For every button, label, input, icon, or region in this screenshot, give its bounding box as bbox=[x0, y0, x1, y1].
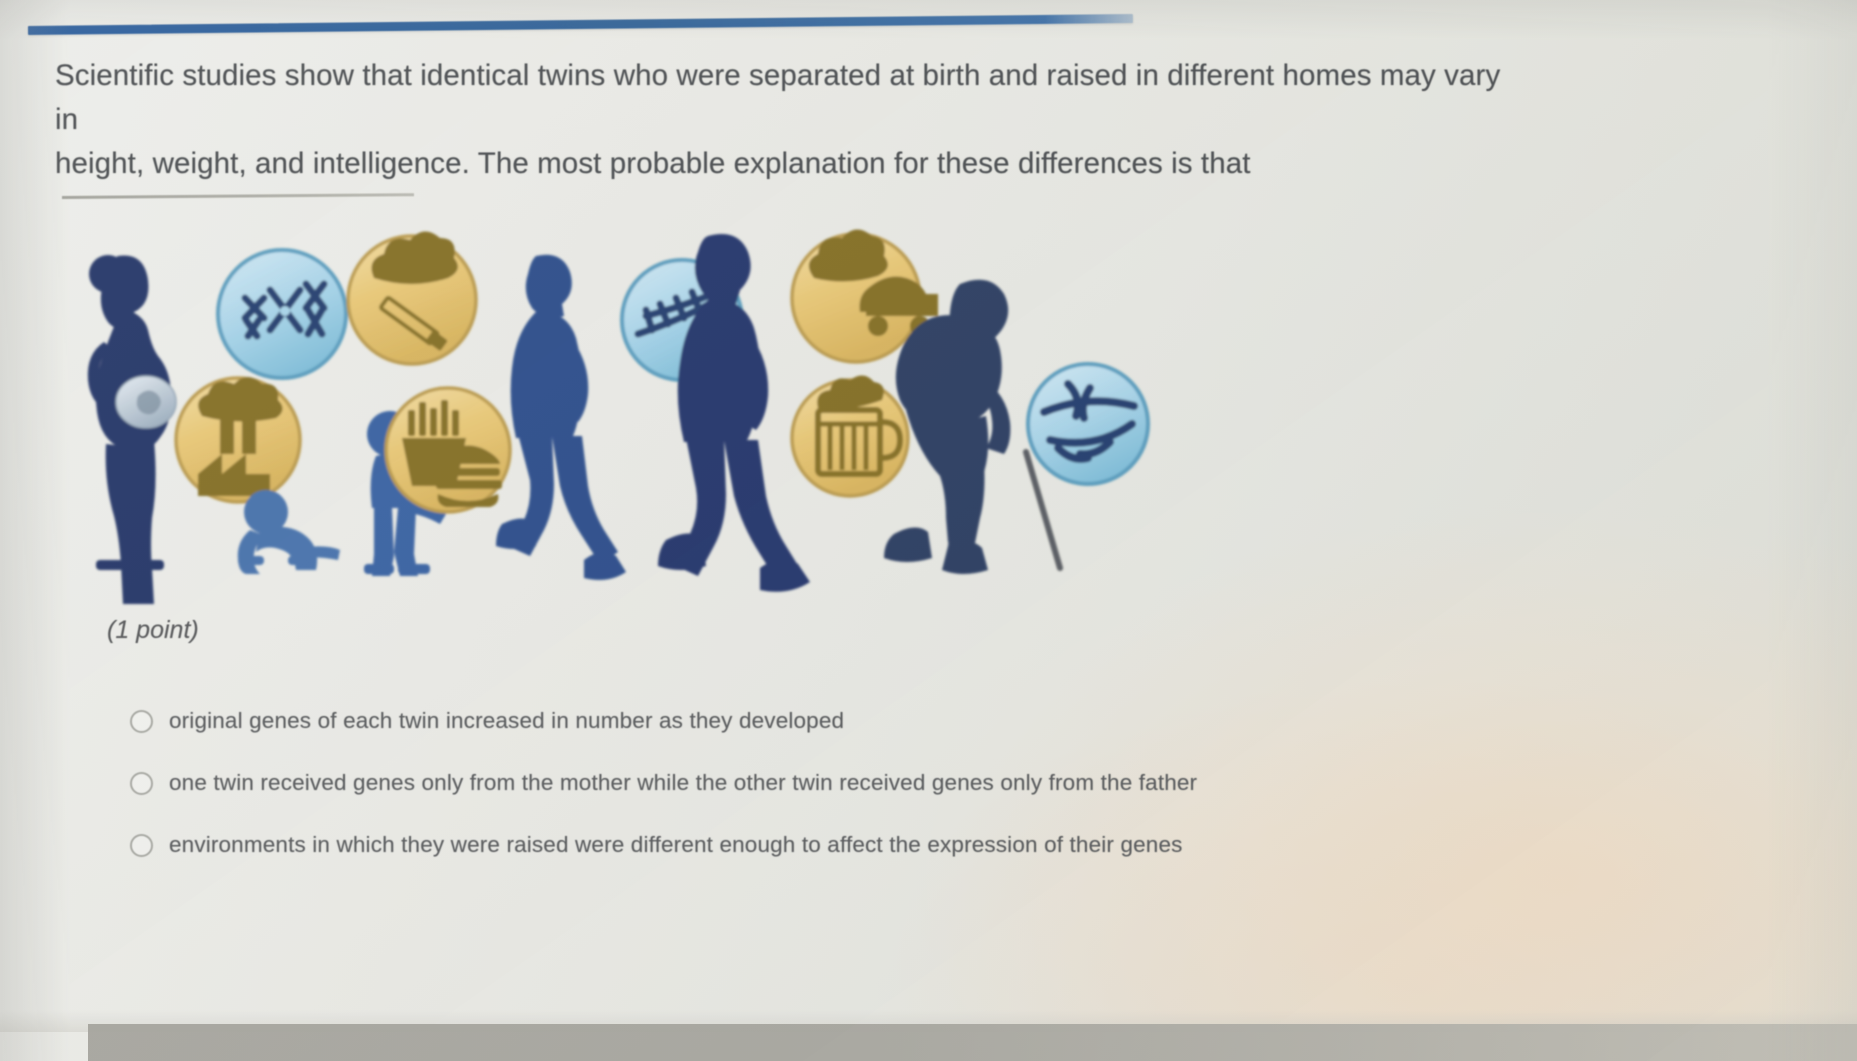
dna-helix-icon bbox=[1028, 364, 1148, 484]
answer-options-list: original genes of each twin increased in… bbox=[130, 690, 1630, 876]
crawling-baby-silhouette bbox=[238, 490, 340, 574]
beer-mug-icon bbox=[792, 375, 908, 496]
points-label: (1 point) bbox=[107, 616, 199, 645]
answer-option-a-label: original genes of each twin increased in… bbox=[169, 708, 844, 734]
fast-food-icon bbox=[386, 388, 510, 512]
teen-walking-silhouette bbox=[496, 255, 626, 580]
life-cycle-illustration bbox=[60, 212, 1240, 612]
question-line-1: Scientific studies show that identical t… bbox=[55, 59, 1500, 136]
answer-option-a[interactable]: original genes of each twin increased in… bbox=[130, 690, 1630, 752]
answer-option-c[interactable]: environments in which they were raised w… bbox=[130, 814, 1630, 876]
answer-option-c-label: environments in which they were raised w… bbox=[169, 832, 1183, 858]
pregnant-woman-silhouette bbox=[88, 255, 171, 604]
quiz-screenshot: Scientific studies show that identical t… bbox=[0, 0, 1857, 1061]
radio-button-b[interactable] bbox=[130, 772, 153, 795]
smoking-cigarette-icon bbox=[348, 231, 476, 364]
radio-button-a[interactable] bbox=[130, 710, 153, 733]
answer-option-b[interactable]: one twin received genes only from the mo… bbox=[130, 752, 1630, 814]
radio-button-c[interactable] bbox=[130, 834, 153, 857]
bottom-bar bbox=[88, 1024, 1857, 1061]
factory-pollution-icon bbox=[176, 377, 300, 502]
chromosomes-icon bbox=[218, 250, 346, 378]
fetus-bubble-icon bbox=[116, 376, 176, 428]
answer-option-b-label: one twin received genes only from the mo… bbox=[169, 770, 1197, 796]
question-text: Scientific studies show that identical t… bbox=[55, 54, 1525, 186]
question-line-2: height, weight, and intelligence. The mo… bbox=[55, 142, 1525, 186]
